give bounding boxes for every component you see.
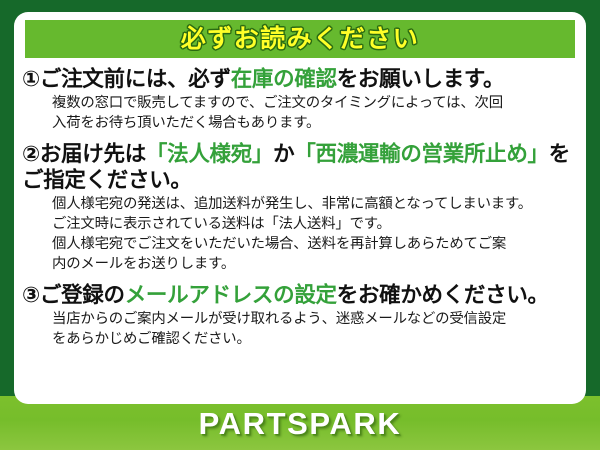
notice-heading-1: ①ご注文前には、必ず在庫の確認をお願いします。	[22, 66, 580, 92]
notice-item-3: ③ご登録のメールアドレスの設定をお確かめください。 当店からのご案内メールが受け…	[14, 282, 586, 350]
notice-sub-1: 複数の窓口で販売してますので、ご注文のタイミングによっては、次回 入荷をお待ち頂…	[52, 94, 580, 134]
notice-heading-2-part-1: お届け先は	[40, 142, 146, 166]
notice-heading-2-highlight-1: 「法人様宛」	[146, 142, 273, 166]
footer-green-band	[0, 396, 600, 450]
notice-heading-2-part-3: か	[273, 142, 294, 166]
notice-number-3: ③	[22, 283, 40, 307]
notice-heading-3-part-1: ご登録の	[40, 283, 125, 307]
header-bar: 必ずお読みください	[25, 20, 575, 58]
notice-heading-1-part-3: をお願いします。	[337, 67, 504, 91]
notice-heading-1-part-1: ご注文前には、必ず	[40, 67, 231, 91]
notice-item-1: ①ご注文前には、必ず在庫の確認をお願いします。 複数の窓口で販売してますので、ご…	[14, 66, 586, 134]
notice-heading-3: ③ご登録のメールアドレスの設定をお確かめください。	[22, 282, 580, 308]
notice-banner: 必ずお読みください ①ご注文前には、必ず在庫の確認をお願いします。 複数の窓口で…	[0, 0, 600, 450]
notice-item-2: ②お届け先は「法人様宛」か「西濃運輸の営業所止め」をご指定ください。 個人様宅宛…	[14, 141, 586, 275]
notice-sub-3: 当店からのご案内メールが受け取れるよう、迷惑メールなどの受信設定 をあらかじめご…	[52, 310, 580, 350]
notice-heading-3-highlight: メールアドレスの設定	[125, 283, 337, 307]
page-title: 必ずお読みください	[181, 27, 420, 52]
notice-list: ①ご注文前には、必ず在庫の確認をお願いします。 複数の窓口で販売してますので、ご…	[14, 66, 586, 350]
notice-sub-2: 個人様宅宛の発送は、追加送料が発生し、非常に高額となってしまいます。 ご注文時に…	[52, 195, 580, 275]
notice-number-2: ②	[22, 142, 40, 166]
notice-heading-3-part-3: をお確かめください。	[337, 283, 549, 307]
notice-heading-1-highlight: 在庫の確認	[231, 67, 337, 91]
notice-heading-2: ②お届け先は「法人様宛」か「西濃運輸の営業所止め」をご指定ください。	[22, 141, 580, 193]
notice-number-1: ①	[22, 67, 40, 91]
notice-heading-2-highlight-2: 「西濃運輸の営業所止め」	[294, 142, 548, 166]
